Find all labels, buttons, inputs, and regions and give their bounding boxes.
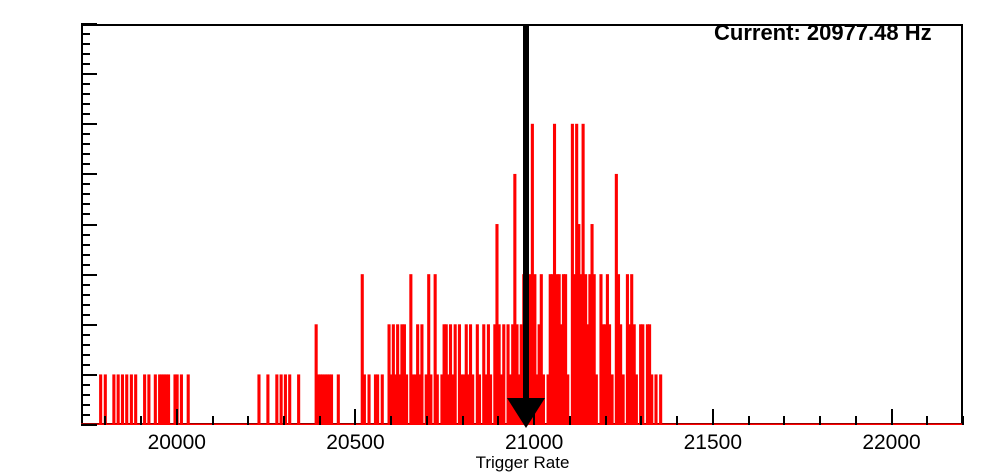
x-tick-label: 21000 (505, 432, 563, 453)
current-rate-annotation: Current: 20977.48 Hz (714, 20, 932, 46)
x-axis-title: Trigger Rate (476, 453, 570, 473)
x-axis-labels: 2000020500210002150022000 (0, 0, 996, 472)
x-tick-label: 22000 (862, 432, 920, 453)
current-rate-marker-arrowhead (507, 398, 545, 428)
x-tick-label: 20500 (326, 432, 384, 453)
x-tick-label: 21500 (684, 432, 742, 453)
histogram-canvas: 012345678 2000020500210002150022000 Trig… (0, 0, 996, 472)
current-rate-marker-line (523, 24, 529, 400)
x-tick-label: 20000 (148, 432, 206, 453)
